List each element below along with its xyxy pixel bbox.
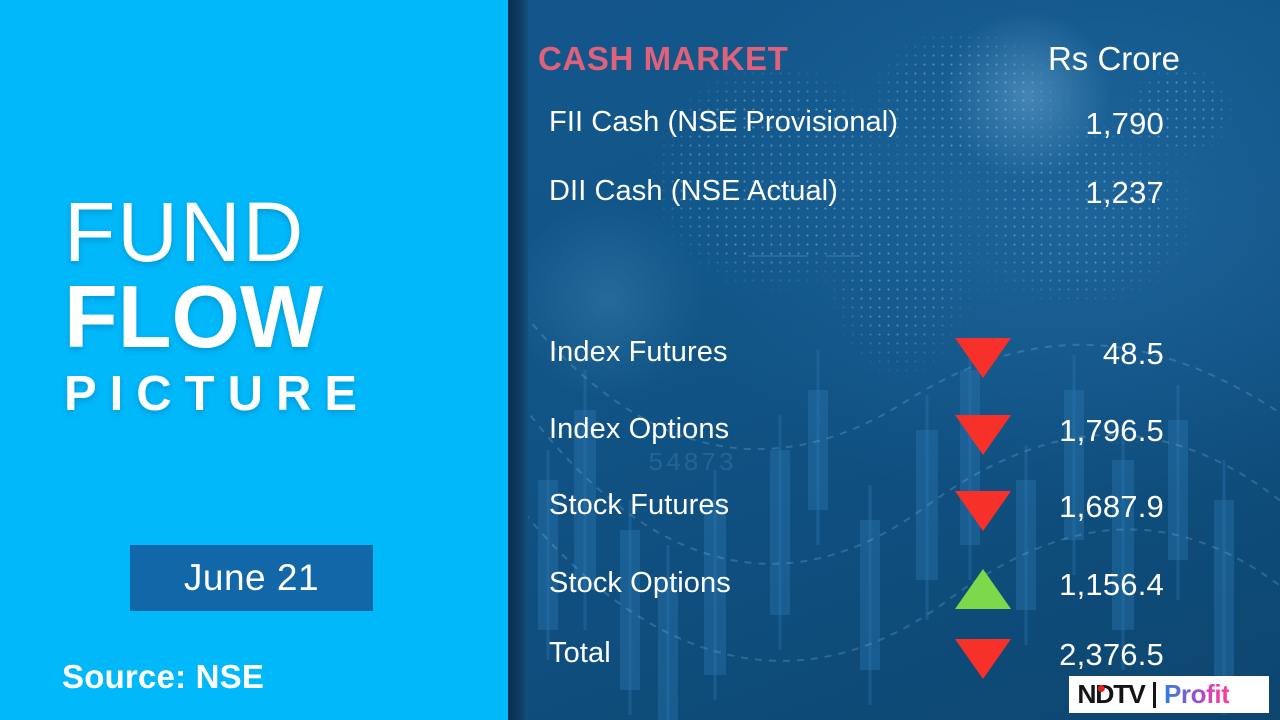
brand-line-fund: FUND xyxy=(64,192,508,273)
date-badge-label: June 21 xyxy=(184,557,319,599)
row-value: 1,790 xyxy=(508,106,1164,142)
logo-ndtv-text: NDTV xyxy=(1077,679,1144,710)
logo-profit-label: Profit xyxy=(1164,679,1229,710)
row-value: 1,156.4 xyxy=(508,567,1164,603)
brand-line-flow: FLOW xyxy=(64,275,508,359)
date-badge: June 21 xyxy=(130,545,373,611)
source-label: Source: NSE xyxy=(62,658,264,696)
brand-line-picture: PICTURE xyxy=(64,371,508,418)
logo-inner: NDTV Profit xyxy=(1069,679,1229,710)
fund-flow-table: CASH MARKET Rs Crore FII Cash (NSE Provi… xyxy=(508,0,1280,720)
logo-ndtv-label: NDTV xyxy=(1077,679,1144,709)
unit-heading: Rs Crore xyxy=(508,40,1180,78)
row-value: 1,687.9 xyxy=(508,489,1164,525)
fund-flow-graphic: FUND FLOW PICTURE June 21 Source: NSE xyxy=(0,0,1280,720)
logo-divider xyxy=(1153,682,1156,708)
row-value: 48.5 xyxy=(508,336,1164,372)
ndtv-profit-logo: NDTV Profit xyxy=(1069,676,1269,713)
brand-title-block: FUND FLOW PICTURE xyxy=(0,192,508,418)
row-value: 2,376.5 xyxy=(508,637,1164,673)
row-value: 1,237 xyxy=(508,175,1164,211)
left-title-panel: FUND FLOW PICTURE June 21 Source: NSE xyxy=(0,0,508,720)
panel-divider xyxy=(508,0,528,720)
logo-red-dot-icon xyxy=(1098,685,1105,692)
row-value: 1,796.5 xyxy=(508,413,1164,449)
